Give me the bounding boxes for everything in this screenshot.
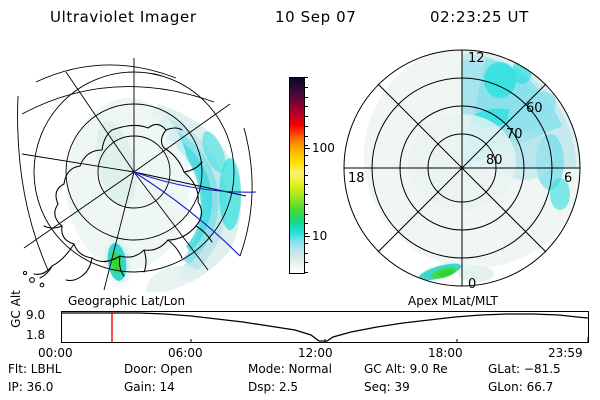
altitude-curve-plot[interactable] <box>61 311 589 343</box>
alt-time-ticks: 00:00 06:00 12:00 18:00 23:59 <box>0 346 600 362</box>
mlt-label-12: 12 <box>468 51 485 66</box>
colorbar-gradient <box>289 77 305 274</box>
colorbar-minor-tick <box>304 136 308 137</box>
mlt-label-18: 18 <box>348 171 365 186</box>
status-seq: Seq: 39 <box>364 380 410 394</box>
colorbar-tick-10 <box>304 236 310 237</box>
status-dsp: Dsp: 2.5 <box>248 380 298 394</box>
colorbar-minor-tick <box>304 165 308 166</box>
header-bar: Ultraviolet Imager 10 Sep 07 02:23:25 UT <box>0 8 600 30</box>
status-door: Door: Open <box>124 362 193 376</box>
colorbar-minor-tick <box>304 87 308 88</box>
colorbar-minor-tick <box>304 116 308 117</box>
status-gc-alt: GC Alt: 9.0 Re <box>364 362 448 376</box>
colorbar-minor-tick <box>304 97 308 98</box>
colorbar-minor-tick <box>304 145 308 146</box>
alt-axis-min: 1.8 <box>26 328 45 342</box>
alt-tick-1200: 12:00 <box>298 346 333 360</box>
alt-axis-label: GC Alt <box>9 279 23 339</box>
alt-tick-0000: 00:00 <box>38 346 73 360</box>
mlt-label-0: 0 <box>468 277 476 292</box>
colorbar-label-10: 10 <box>312 229 327 243</box>
observation-time: 02:23:25 UT <box>430 8 529 26</box>
alt-caption-geographic: Geographic Lat/Lon <box>68 294 185 308</box>
altitude-timeline-panel[interactable]: Geographic Lat/Lon Apex MLat/MLT GC Alt … <box>0 294 600 358</box>
status-mode: Mode: Normal <box>248 362 332 376</box>
colorbar-minor-tick <box>304 262 308 263</box>
status-ip: IP: 36.0 <box>8 380 53 394</box>
colorbar-minor-tick <box>304 223 308 224</box>
colorbar-minor-tick <box>304 204 308 205</box>
colorbar-minor-tick <box>304 194 308 195</box>
alt-caption-apex: Apex MLat/MLT <box>408 294 498 308</box>
mlt-grid <box>344 50 580 286</box>
status-glat: GLat: −81.5 <box>488 362 561 376</box>
uv-imager-screen: Ultraviolet Imager 10 Sep 07 02:23:25 UT <box>0 0 600 400</box>
status-gain: Gain: 14 <box>124 380 175 394</box>
mlt-polar-dial[interactable]: 12 6 0 18 60 70 80 <box>336 44 588 292</box>
colorbar-minor-tick <box>304 253 308 254</box>
mlt-label-6: 6 <box>564 171 572 186</box>
status-bar: Flt: LBHL IP: 36.0 Door: Open Gain: 14 M… <box>0 362 600 400</box>
instrument-title: Ultraviolet Imager <box>50 8 197 26</box>
status-filter: Flt: LBHL <box>8 362 61 376</box>
observation-date: 10 Sep 07 <box>275 8 356 26</box>
colorbar-minor-tick <box>304 106 308 107</box>
alt-axis-max: 9.0 <box>26 308 45 322</box>
colorbar-minor-tick <box>304 175 308 176</box>
alt-tick-0600: 06:00 <box>168 346 203 360</box>
mlat-label-80: 80 <box>486 153 503 168</box>
colorbar-minor-tick <box>304 233 308 234</box>
mlt-aurora-emission <box>364 44 588 289</box>
colorbar-minor-tick <box>304 243 308 244</box>
status-glon: GLon: 66.7 <box>488 380 553 394</box>
colorbar-minor-tick <box>304 214 308 215</box>
colorbar-minor-tick <box>304 155 308 156</box>
alt-tick-1800: 18:00 <box>428 346 463 360</box>
colorbar-minor-tick <box>304 77 308 78</box>
colorbar-tick-100 <box>304 148 310 149</box>
colorbar-minor-tick <box>304 272 308 273</box>
alt-tick-2359: 23:59 <box>548 346 583 360</box>
colorbar-label-100: 100 <box>312 141 335 155</box>
colorbar-minor-tick <box>304 184 308 185</box>
mlat-label-60: 60 <box>526 101 543 116</box>
colorbar: photon cm-2s-1 10010 <box>266 60 336 290</box>
colorbar-minor-tick <box>304 126 308 127</box>
geographic-polar-map[interactable] <box>8 44 266 292</box>
mlat-label-70: 70 <box>506 127 523 142</box>
